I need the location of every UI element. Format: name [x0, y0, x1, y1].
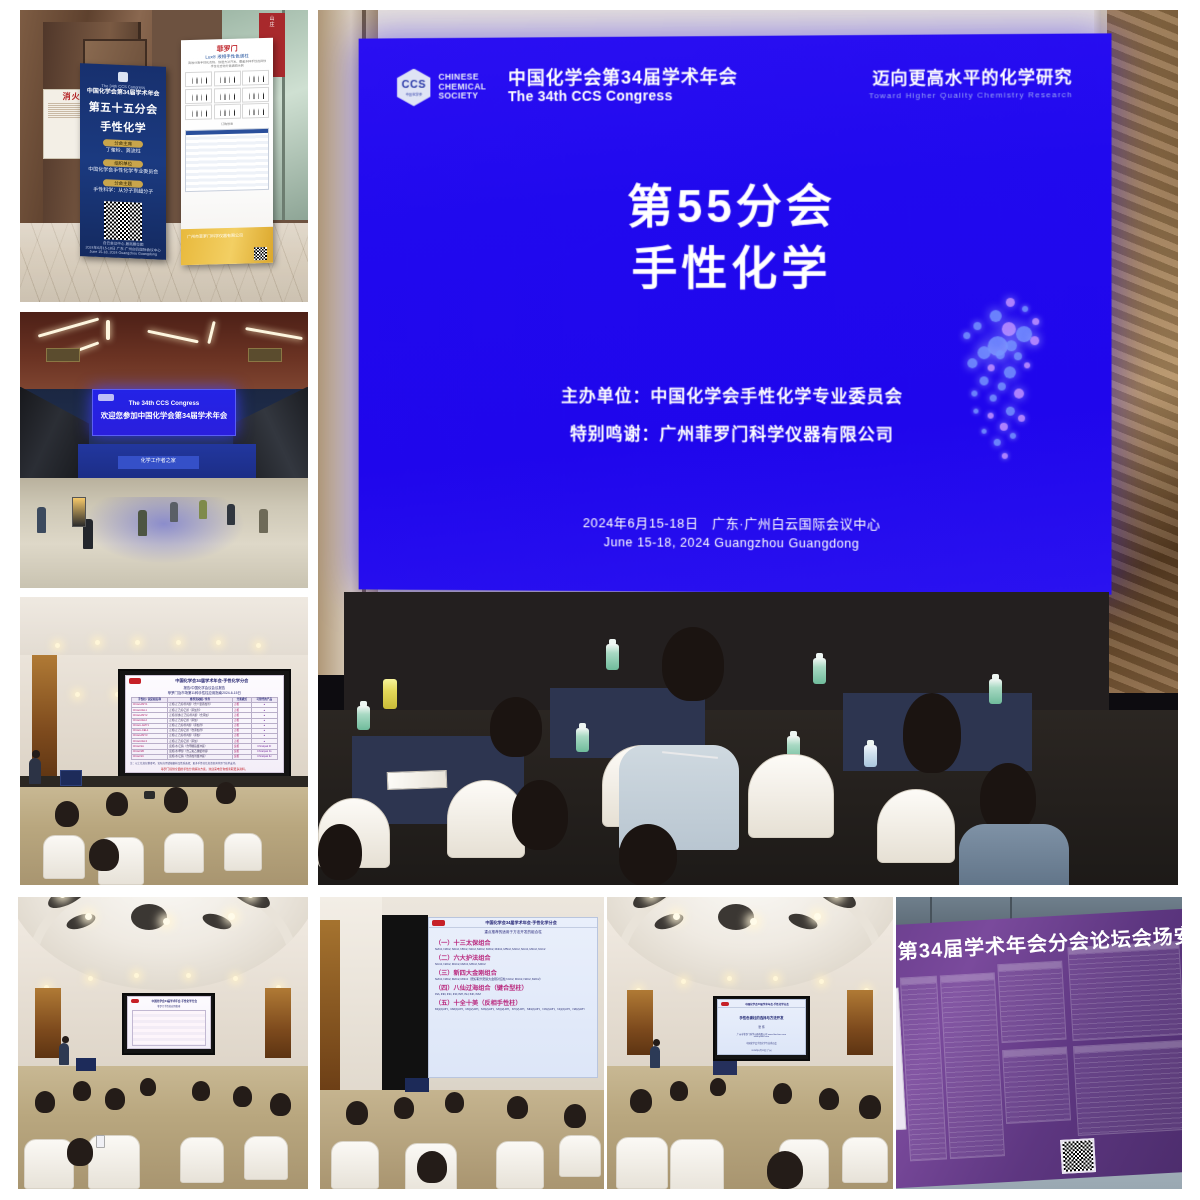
chromatogram-cell [242, 103, 269, 119]
slide-header: 中国化学会34届学术年会·手性化学分会 [732, 1002, 802, 1006]
chair [331, 1141, 379, 1189]
presentation-slide: 中国化学会34届学术年会·手性化学分会 手性色谱柱的选择与方法开发 张 伟 广州… [717, 999, 806, 1054]
audience-head [67, 1138, 93, 1166]
molecule-dot [1031, 336, 1040, 345]
qr-code-icon [105, 202, 143, 242]
slide-header: 中国化学会34届学术年会-手性化学分会 [142, 999, 207, 1003]
digital-kiosk [72, 497, 86, 527]
water-bottle [576, 728, 589, 752]
banner-white-footer: 广州市菲罗门科学仪器有限公司 [181, 227, 273, 265]
overhead-sign-right [248, 348, 283, 362]
molecule-dot [1014, 352, 1022, 360]
slide-presenter: 张 伟 [718, 1020, 805, 1029]
rollup-banner-white: 菲罗门 Lux® 液相手性色谱柱 高效分离手性化合物，快速方法开发，覆盖多种手性… [181, 38, 273, 265]
order-info-table [185, 128, 269, 192]
person [37, 507, 46, 533]
molecule-dot [1006, 406, 1015, 415]
slide-affiliation-1: 广州市菲罗门科学仪器有限公司 www.flmchina.com [718, 1029, 805, 1036]
board-panel-venue-right-bottom [1073, 1041, 1182, 1136]
banner-theme: 手性科学：从分子到超分子 [80, 187, 166, 198]
wall-art-relief [1101, 10, 1178, 693]
slide-header: 中国化学会34届学术年会·手性化学分会 [448, 920, 594, 926]
molecule-dot [1004, 366, 1016, 378]
photo-venue-entrance-rollup-banners: 山庄 消火栓 The 34th CCS Congress 中国化学会第34届学术… [20, 10, 308, 302]
board-panel-index [899, 976, 946, 1162]
ornate-dome-ceiling [607, 897, 893, 990]
wood-panel-right [265, 988, 291, 1058]
molecule-dot [974, 322, 982, 330]
speaker-head [32, 750, 40, 758]
molecule-dot [1006, 340, 1017, 351]
water-bottle [606, 644, 619, 670]
chair [559, 1135, 601, 1177]
banner-chairs: 丁奎岭、龚流柱 [80, 147, 166, 158]
chair [616, 1137, 668, 1189]
slide-section-heading: （三）新四大金刚组合 [429, 966, 597, 977]
table-cell: Chiralpak IH [251, 754, 277, 759]
audience-head [773, 1083, 792, 1104]
ccs-mark: CCS [402, 79, 426, 91]
molecule-dot [1002, 453, 1008, 459]
table-cell: Chiral-SC [131, 754, 167, 759]
chromatogram-cell [185, 88, 212, 104]
rollup-banner-blue: The 34th CCS Congress 中国化学会第34届学术年会 第五十五… [80, 64, 166, 260]
molecule-dot [1024, 362, 1030, 368]
chair [224, 833, 262, 871]
chromatogram-cell [185, 72, 212, 88]
slide-subheader: 重点推荐的适用于方法开发的组合柱 [429, 928, 597, 936]
molecule-dot [1010, 433, 1016, 439]
molecule-dot [1002, 322, 1016, 336]
tea-bottle [383, 679, 397, 709]
audience-head [767, 1151, 803, 1189]
person [227, 504, 235, 525]
speaker [29, 758, 41, 784]
table-cell: 反相 [232, 754, 251, 759]
audience-head [512, 780, 568, 850]
order-info-label: 订购信息 [181, 121, 273, 127]
projection-screen: CCS 中国化学会 CHINESE CHEMICAL SOCIETY 中国化学会… [359, 34, 1111, 595]
audience-head [507, 1096, 528, 1119]
ccs-mark-sub: 中国化学会 [405, 92, 422, 97]
presentation-slide: 中国化学会34届学术年会·手性化学分会 重点推荐的适用于方法开发的组合柱 （一）… [428, 917, 598, 1078]
audience-head [490, 697, 542, 757]
molecule-dot [1018, 415, 1025, 422]
board-panel-special-forums [1002, 1047, 1071, 1124]
molecule-dot [994, 439, 1001, 446]
water-bottle [989, 679, 1002, 704]
board-panel-session-names [939, 972, 1005, 1159]
speaker [650, 1046, 660, 1068]
chair [670, 1139, 724, 1189]
board-panel-main-sessions [997, 961, 1066, 1043]
slide-date: 2024年6月15日 广州 [718, 1045, 805, 1052]
audience-head [859, 1095, 881, 1119]
audience-head [55, 801, 79, 827]
audience-head [318, 824, 362, 880]
slide-sections: （一）十三太保组合N2C2, N3C2, N4C2, N5C2, N1C2, M… [429, 936, 597, 1011]
presentation-slide: 中国化学会34届学术年会-手性化学分会 菲罗门手性柱应用指南 [127, 996, 211, 1049]
chromatogram-cell [214, 71, 241, 87]
vendor-company: 广州市菲罗门科学仪器有限公司 [181, 227, 273, 240]
lectern [60, 770, 82, 786]
overhead-sign-left [46, 348, 81, 362]
audience-head [630, 1089, 652, 1113]
photo-session-room-column-combination-slide: 中国化学会34届学术年会·手性化学分会 重点推荐的适用于方法开发的组合柱 （一）… [320, 897, 604, 1189]
molecule-dot [980, 376, 989, 385]
chromatogram-cell [214, 87, 241, 103]
slide-subheader-2: 菲罗门及市场第11种手性柱应用指南2024-6-15日 [126, 690, 282, 695]
molecule-dot [990, 394, 997, 401]
molecule-dot [974, 408, 979, 413]
wood-panel-left [627, 990, 653, 1054]
qr-code-icon [254, 247, 267, 260]
lectern [405, 1078, 429, 1092]
tagline-en: Toward Higher Quality Chemistry Research [869, 90, 1073, 100]
congress-tagline: 迈向更高水平的化学研究 Toward Higher Quality Chemis… [869, 63, 1073, 100]
chair [842, 1137, 888, 1183]
banner-title-line1: 第五十五分会 [80, 101, 166, 119]
slide-red-note: 菲罗门提供全面的手性分离解决方案，欢迎来电咨询或索取更多资料。 [126, 766, 282, 771]
phone-icon [144, 791, 155, 799]
table [713, 1061, 737, 1075]
molecule-dot [1033, 318, 1040, 325]
chair [748, 754, 834, 838]
chiral-column-table: 手性柱 / 固定相名称 推荐流动相 / 条件 分离模式 可替代的产品 Chira… [131, 697, 278, 760]
speaker-head [653, 1039, 660, 1046]
molecule-dot [1022, 306, 1028, 312]
chair [244, 1136, 288, 1180]
chromatogram-cell [185, 105, 212, 121]
congress-title-en: The 34th CCS Congress [508, 87, 738, 105]
schedule-board: 第34届学术年会分会论坛会场安排 [896, 909, 1182, 1189]
water-bottle [357, 706, 370, 730]
person [259, 509, 268, 533]
audience-head [35, 1091, 55, 1113]
molecule-dot [978, 346, 991, 359]
audience-head [346, 1101, 368, 1125]
slide-section-heading: （一）十三太保组合 [429, 936, 597, 947]
vendor-logo-icon [129, 678, 141, 684]
chair [496, 1141, 544, 1189]
audience-head [670, 1081, 688, 1101]
room-ceiling [20, 597, 308, 655]
audience-head [710, 1078, 726, 1096]
vendor-logo-icon [131, 999, 139, 1003]
audience-head [619, 824, 677, 885]
person [199, 500, 207, 519]
slide-section-heading: （二）六大护法组合 [429, 951, 597, 962]
led-welcome-screen: The 34th CCS Congress 欢迎您参加中国化学会第34届学术年会 [92, 389, 236, 436]
photo-session-room-wide-audience: 中国化学会34届学术年会-手性化学分会 菲罗门手性柱应用指南 [18, 897, 308, 1189]
main-title-line2: 手性化学 [359, 236, 1111, 299]
photo-collage: 山庄 消火栓 The 34th CCS Congress 中国化学会第34届学术… [0, 0, 1200, 1200]
main-title-line1: 第55分会 [359, 174, 1111, 238]
molecule-network-decoration [943, 292, 1095, 484]
slide-main-title: 第55分会 手性化学 [359, 174, 1111, 299]
tagline-cn: 迈向更高水平的化学研究 [869, 63, 1073, 89]
chair [24, 1139, 74, 1189]
audience-head [164, 787, 188, 813]
banner-cn-header: 中国化学会第34届学术年会 [80, 88, 166, 100]
photo-session-room-column-table-slide: 中国化学会34届学术年会-手性化学分会 报告/中国化学会议会议报告 菲罗门及市场… [20, 597, 308, 885]
congress-title-cn: 中国化学会第34届学术年会 [508, 67, 738, 88]
molecule-dot [964, 332, 971, 339]
led-line-en: The 34th CCS Congress [93, 400, 235, 407]
table-body: Chiral-AMY1正相-正己烷/异丙醇（含少量添加剂）正相●Chiral-C… [131, 702, 277, 759]
banner-title-line2: 手性化学 [80, 120, 166, 138]
audience-head [417, 1151, 447, 1183]
audience-head [270, 1093, 291, 1116]
audience-head [216, 782, 236, 804]
table-cell: 反相-水/乙腈（含添加剂缓冲液） [168, 754, 233, 759]
ccs-logo-icon [98, 394, 114, 401]
chair [877, 789, 955, 863]
banner-organizer: 中国化学会手性化学专业委员会 [80, 167, 166, 178]
audience-head [73, 1081, 91, 1101]
speaker [59, 1043, 69, 1065]
slide-section-heading: （五）十全十美（反相手性柱） [429, 996, 597, 1007]
person [170, 502, 178, 522]
chromatogram-cell [214, 104, 241, 120]
wood-panel-left [320, 920, 340, 1089]
audience-head [903, 693, 961, 773]
vendor-logo-icon [432, 920, 445, 926]
wood-panel-left [35, 988, 61, 1058]
ccs-logo-icon: CCS 中国化学会 [397, 69, 430, 107]
led-line-cn: 欢迎您参加中国化学会第34届学术年会 [93, 410, 235, 421]
audience-head [564, 1104, 586, 1128]
ornate-dome-ceiling [18, 897, 308, 990]
molecule-dot [1014, 388, 1024, 398]
audience-head [394, 1097, 414, 1119]
chair [43, 835, 85, 879]
molecule-dot [988, 364, 995, 371]
molecule-dot [998, 382, 1006, 390]
audience-head [105, 1088, 125, 1110]
molecule-dot [968, 358, 978, 368]
audience-head [106, 792, 128, 816]
slide-title: 手性色谱柱的选择与方法开发 [718, 1008, 805, 1020]
booth-banner-text: 化学工作者之家 [118, 456, 199, 470]
molecule-dot [1006, 298, 1015, 307]
lectern [76, 1058, 96, 1071]
vendor-logo-icon [721, 1002, 729, 1006]
photo-outdoor-session-schedule-board: 第34届学术年会分会论坛会场安排 [896, 897, 1182, 1189]
chair [164, 833, 204, 873]
open-book [387, 770, 448, 790]
molecule-dot [1000, 423, 1008, 431]
screen-bezel [382, 915, 427, 1096]
board-panel-venue-right-top [1067, 941, 1182, 1042]
society-en-name: CHINESE CHEMICAL SOCIETY [438, 73, 486, 101]
slide-table-block [132, 1010, 206, 1046]
audience-head [445, 1092, 464, 1113]
molecule-dot [990, 310, 1002, 322]
audience-head [980, 763, 1036, 833]
qr-code-icon [1060, 1138, 1096, 1174]
audience-torso [959, 824, 1069, 885]
speaker-head [62, 1036, 69, 1043]
photo-exhibition-hall-led-welcome: The 34th CCS Congress 欢迎您参加中国化学会第34届学术年会… [20, 312, 308, 588]
audience-head-center [662, 627, 724, 701]
audience-head [89, 839, 119, 871]
presentation-slide: 中国化学会34届学术年会-手性化学分会 报告/中国化学会议会议报告 菲罗门及市场… [125, 675, 283, 773]
chromatogram-cell [242, 70, 269, 86]
congress-branding: CCS 中国化学会 CHINESE CHEMICAL SOCIETY 中国化学会… [397, 67, 738, 107]
phone-icon [96, 1135, 105, 1148]
date-en: June 15-18, 2024 Guangzhou Guangdong [359, 532, 1111, 555]
molecule-dot [972, 390, 978, 396]
slide-section-codes: MQ(2)-RH、MZ(2)-RH、MQ(2)-RH、MX(2)-RH、MQ(2… [429, 1007, 597, 1011]
molecule-dot [996, 350, 1005, 359]
slide-affiliation-3: 中国化学会手性化学专业委员会 [718, 1038, 805, 1045]
molecule-dot [988, 412, 994, 418]
slide-date-venue: 2024年6月15-18日 广东·广州白云国际会议中心 June 15-18, … [359, 512, 1111, 555]
audience-head [233, 1086, 252, 1107]
photo-session-room-speaker-title-slide: 中国化学会34届学术年会·手性化学分会 手性色谱柱的选择与方法开发 张 伟 广州… [607, 897, 893, 1189]
audience-head [819, 1088, 839, 1110]
table-row: Chiral-SC反相-水/乙腈（含添加剂缓冲液）反相Chiralpak IH [131, 754, 277, 759]
audience-head [192, 1081, 210, 1101]
water-bottle [864, 745, 877, 767]
photo-main-session-opening-slide: CCS 中国化学会 CHINESE CHEMICAL SOCIETY 中国化学会… [318, 10, 1178, 885]
molecule-dot [982, 429, 987, 434]
chromatogram-grid [181, 67, 273, 123]
slide-header: 中国化学会34届学术年会-手性化学分会 [144, 678, 279, 684]
slide-subheader: 菲罗门手性柱应用指南 [128, 1004, 210, 1008]
society-en-line: SOCIETY [438, 92, 486, 102]
chair [180, 1137, 224, 1183]
audience-head [140, 1078, 156, 1096]
slide-section-heading: （四）八仙过海组合（键合型柱） [429, 981, 597, 992]
ccs-logo-icon [119, 72, 129, 82]
chromatogram-cell [242, 87, 269, 103]
wood-panel-right [847, 990, 873, 1054]
water-bottle [813, 658, 826, 684]
person [138, 510, 147, 536]
